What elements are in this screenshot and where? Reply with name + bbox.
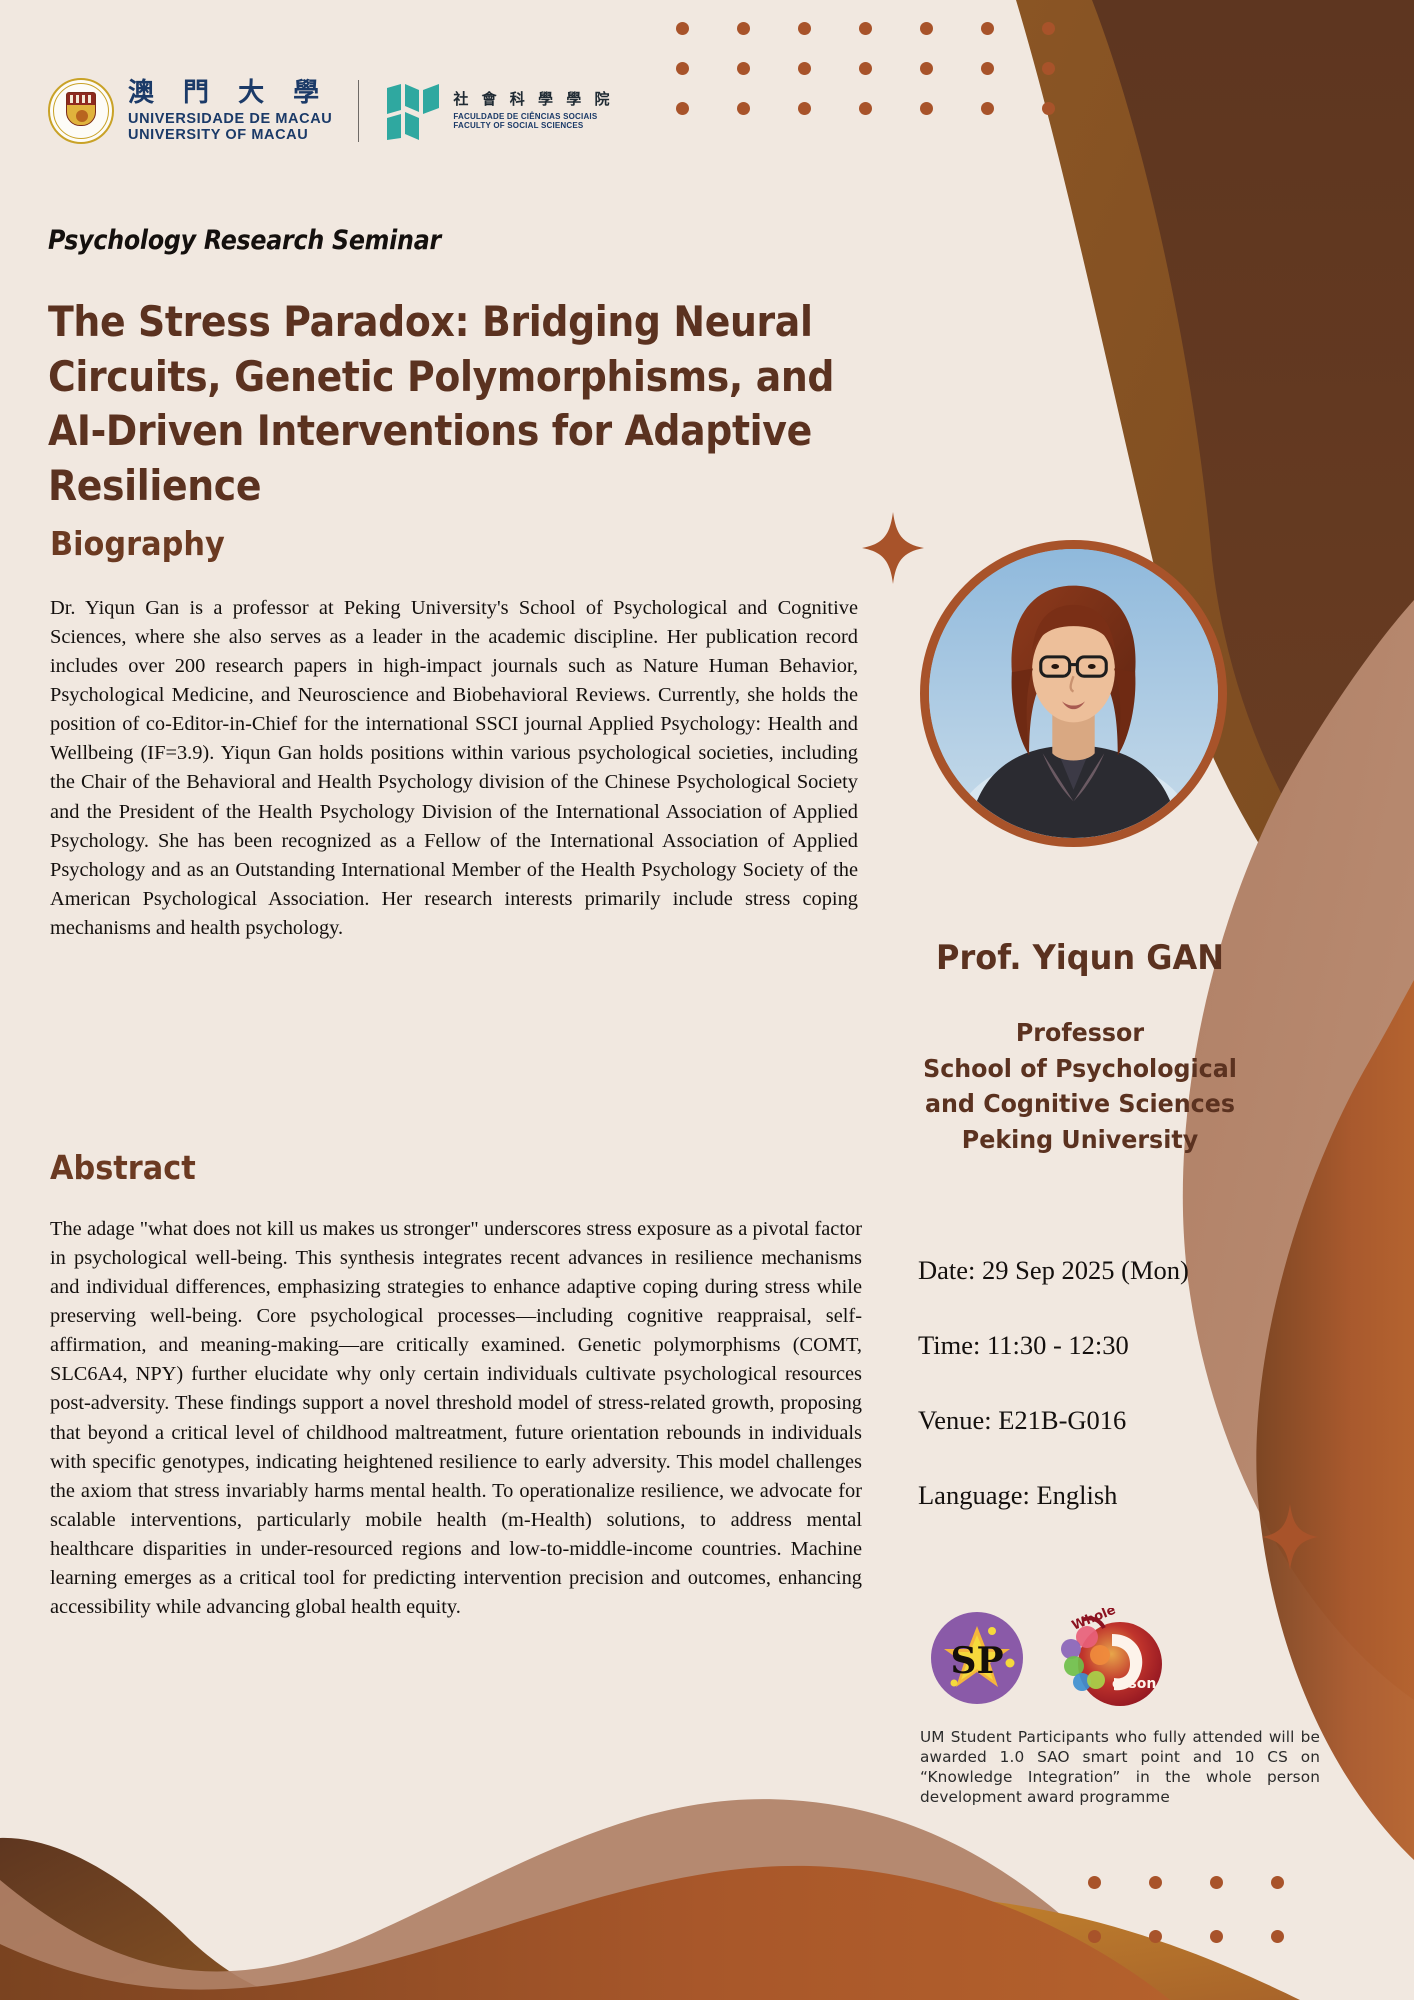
um-chinese-name: 澳 門 大 學 <box>128 79 332 108</box>
seminar-kicker: Psychology Research Seminar <box>48 225 441 256</box>
event-details: Date: 29 Sep 2025 (Mon) Time: 11:30 - 12… <box>918 1255 1348 1555</box>
fss-portuguese-name: FACULDADE DE CIÊNCIAS SOCIAIS <box>453 112 613 121</box>
award-badges: SP Whole erson <box>930 1608 1166 1708</box>
university-of-macau-logo: 澳 門 大 學 UNIVERSIDADE DE MACAU UNIVERSITY… <box>48 78 332 144</box>
speaker-affiliation: Professor School of Psychological and Co… <box>881 1015 1280 1157</box>
faculty-of-social-sciences-logo: 社 會 科 學 學 院 FACULDADE DE CIÊNCIAS SOCIAI… <box>385 82 613 140</box>
abstract-text: The adage "what does not kill us makes u… <box>50 1215 862 1622</box>
sao-smart-point-badge-icon: SP <box>930 1611 1024 1705</box>
abstract-heading: Abstract <box>50 1148 196 1187</box>
affiliation-line-3: and Cognitive Sciences <box>881 1086 1280 1122</box>
fss-logo-text: 社 會 科 學 學 院 FACULDADE DE CIÊNCIAS SOCIAI… <box>453 91 613 131</box>
detail-time: Time: 11:30 - 12:30 <box>918 1330 1348 1361</box>
whole-person-badge-icon: Whole erson <box>1038 1608 1166 1708</box>
affiliation-line-1: Professor <box>881 1015 1280 1051</box>
affiliation-line-2: School of Psychological <box>881 1051 1280 1087</box>
logo-divider <box>358 80 359 142</box>
affiliation-line-4: Peking University <box>881 1122 1280 1158</box>
dot-pattern-top <box>676 22 1103 142</box>
detail-venue: Venue: E21B-G016 <box>918 1405 1348 1436</box>
seminar-poster: 澳 門 大 學 UNIVERSIDADE DE MACAU UNIVERSITY… <box>0 0 1414 2000</box>
speaker-portrait-image <box>929 549 1218 838</box>
biography-text: Dr. Yiqun Gan is a professor at Peking U… <box>50 594 858 943</box>
detail-date: Date: 29 Sep 2025 (Mon) <box>918 1255 1348 1286</box>
wp-badge-label-bottom: erson <box>1112 1676 1156 1692</box>
um-logo-text: 澳 門 大 學 UNIVERSIDADE DE MACAU UNIVERSITY… <box>128 79 332 144</box>
sparkle-icon-upper <box>862 512 924 584</box>
fss-english-name: FACULTY OF SOCIAL SCIENCES <box>453 121 613 130</box>
dot-pattern-bottom <box>1088 1876 1332 1984</box>
um-crest-icon <box>48 78 114 144</box>
logo-header: 澳 門 大 學 UNIVERSIDADE DE MACAU UNIVERSITY… <box>48 78 613 144</box>
fss-mark-icon <box>385 82 441 140</box>
avatar <box>920 540 1227 847</box>
detail-language: Language: English <box>918 1480 1348 1511</box>
sp-badge-label: SP <box>950 1640 1003 1682</box>
um-english-name: UNIVERSITY OF MACAU <box>128 127 332 143</box>
um-portuguese-name: UNIVERSIDADE DE MACAU <box>128 111 332 127</box>
fss-chinese-name: 社 會 科 學 學 院 <box>453 91 613 109</box>
biography-heading: Biography <box>50 524 225 563</box>
footer-note: UM Student Participants who fully attend… <box>920 1728 1320 1808</box>
page-title: The Stress Paradox: Bridging Neural Circ… <box>48 295 858 513</box>
speaker-name: Prof. Yiqun GAN <box>892 938 1268 978</box>
